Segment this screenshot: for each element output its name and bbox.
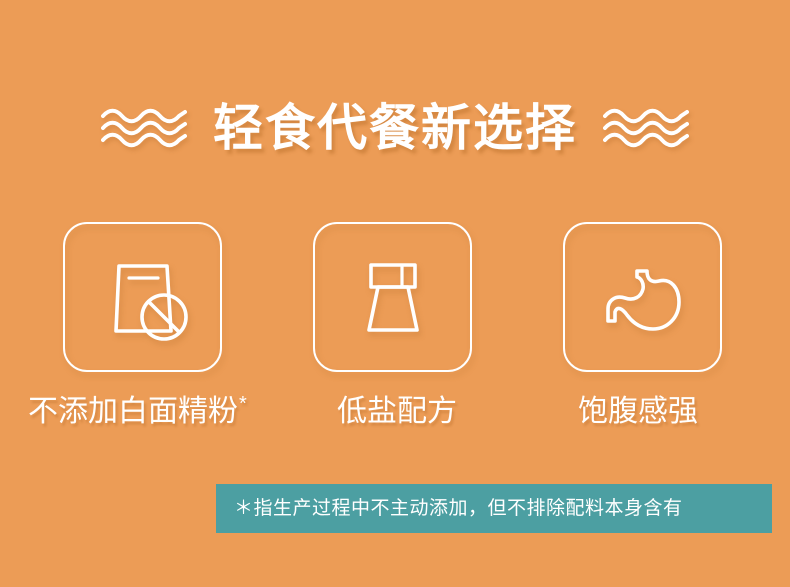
feature-label-satiety: 饱腹感强 [578, 390, 698, 434]
feature-labels-row: 不添加白面精粉* 低盐配方 饱腹感强 [0, 390, 790, 434]
feature-label-text: 饱腹感强 [578, 395, 698, 428]
stomach-icon [591, 245, 695, 349]
no-white-flour-icon [91, 245, 195, 349]
feature-cards-row [63, 222, 722, 372]
feature-label-low-salt: 低盐配方 [337, 390, 457, 434]
headline-row: 轻食代餐新选择 [0, 92, 790, 164]
wave-lines-left-icon [101, 108, 187, 148]
salt-shaker-icon [341, 245, 445, 349]
feature-card-satiety [563, 222, 722, 372]
feature-label-text: 低盐配方 [337, 395, 457, 428]
wave-lines-right-icon [603, 108, 689, 148]
feature-label-text: 不添加白面精粉 [28, 395, 238, 428]
page-title: 轻食代餐新选择 [213, 103, 577, 153]
feature-card-low-salt [313, 222, 472, 372]
footnote-bar: ＊指生产过程中不主动添加，但不排除配料本身含有 [216, 484, 772, 533]
footnote-text: ＊指生产过程中不主动添加，但不排除配料本身含有 [216, 499, 683, 518]
feature-label-no-white-flour: 不添加白面精粉* [28, 390, 247, 434]
feature-card-no-white-flour [63, 222, 222, 372]
promo-banner: 轻食代餐新选择 [0, 0, 790, 587]
footnote-marker-asterisk: * [239, 393, 247, 415]
